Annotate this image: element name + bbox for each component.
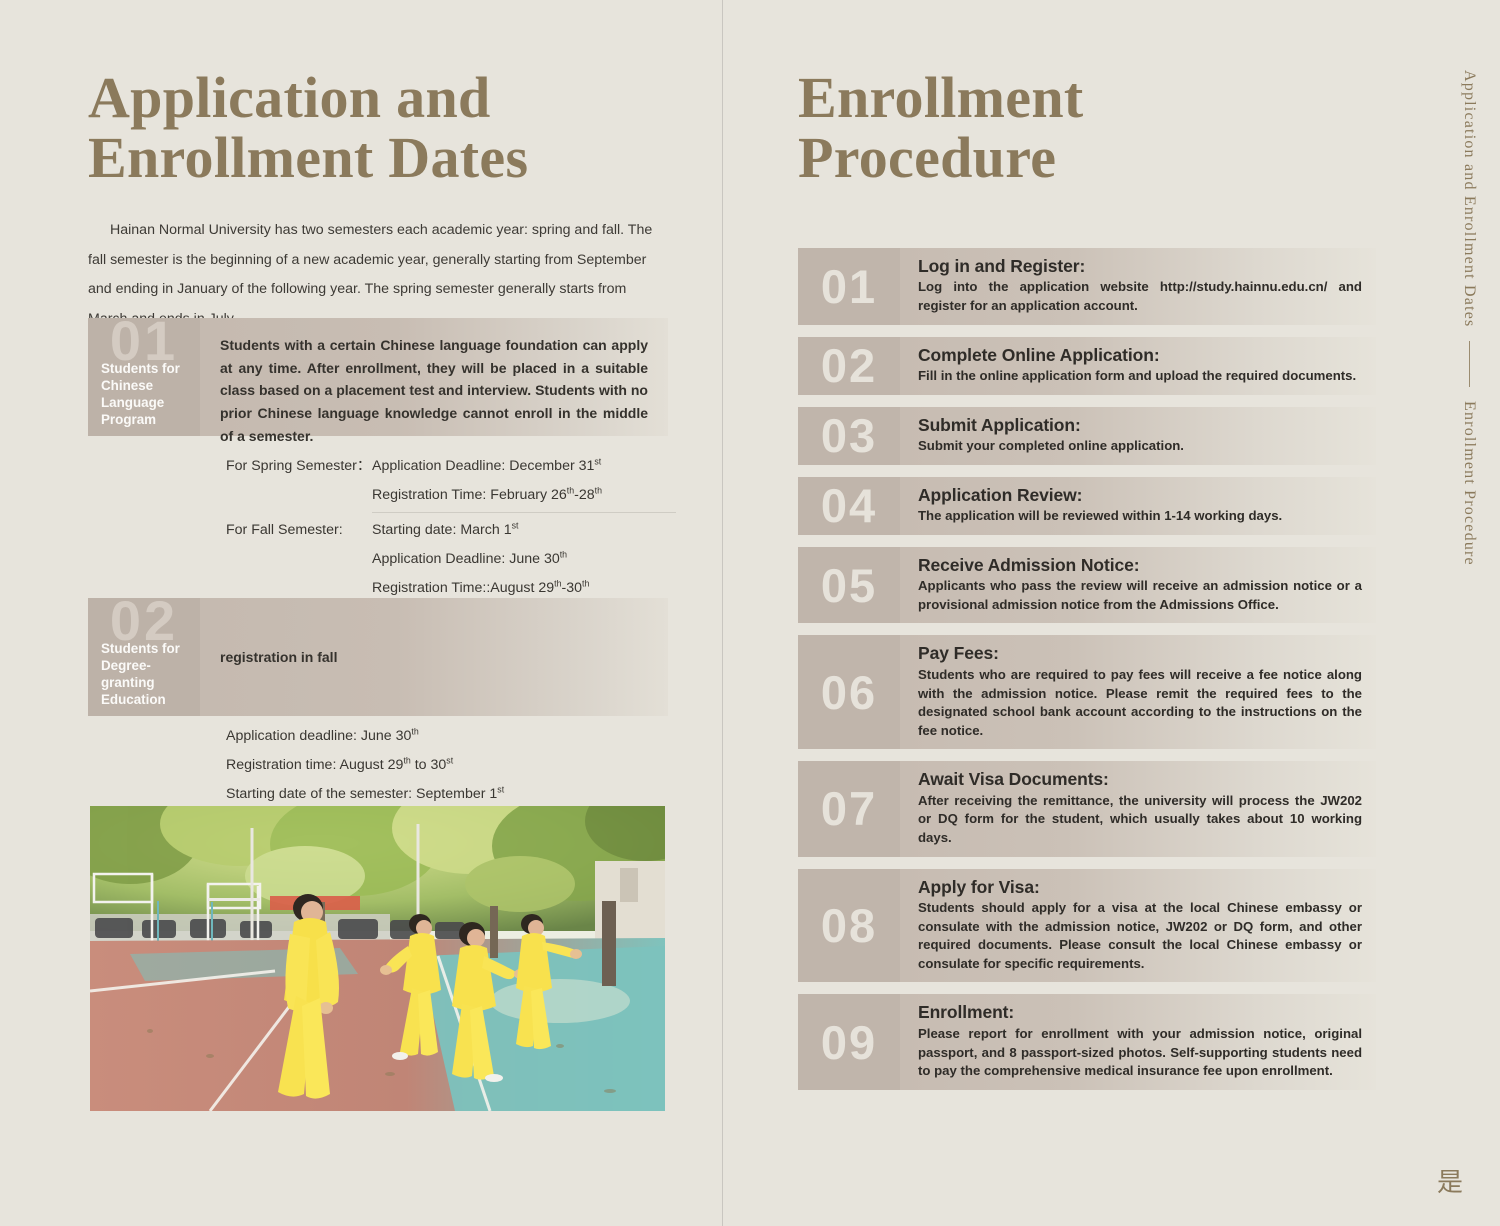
step-number: 02 <box>798 337 900 395</box>
enrollment-steps-list: 01 Log in and Register: Log into the app… <box>798 248 1376 1102</box>
page-title-right: Enrollment Procedure <box>798 68 1398 187</box>
step-number: 08 <box>798 869 900 983</box>
step-body: Application Review: The application will… <box>900 477 1376 535</box>
dates-divider-rule <box>372 512 676 513</box>
step-body: Apply for Visa: Students should apply fo… <box>900 869 1376 983</box>
side-rail: Application and Enrollment Dates Enrollm… <box>1452 70 1486 690</box>
page-title-left-line2: Enrollment Dates <box>88 128 688 188</box>
side-rail-bottom-label: Enrollment Procedure <box>1460 401 1478 566</box>
brochure-spread: Application and Enrollment Dates Hainan … <box>0 0 1500 1226</box>
step-text: After receiving the remittance, the univ… <box>918 792 1362 848</box>
page-title-left-line1: Application and <box>88 68 688 128</box>
step-text: Students who are required to pay fees wi… <box>918 666 1362 740</box>
step-body: Complete Online Application: Fill in the… <box>900 337 1376 395</box>
program-block-02: 02 Students for Degree-granting Educatio… <box>88 598 668 716</box>
step-number: 07 <box>798 761 900 856</box>
spring-application-deadline: Application Deadline: December 31st <box>372 452 676 481</box>
step-text: Submit your completed online application… <box>918 437 1362 456</box>
step-number: 06 <box>798 635 900 749</box>
left-page: Application and Enrollment Dates Hainan … <box>0 0 722 1226</box>
program-block-01-label: Students for Chinese Language Program <box>101 360 199 429</box>
enrollment-step: 04 Application Review: The application w… <box>798 477 1376 535</box>
step-text: The application will be reviewed within … <box>918 507 1362 526</box>
program-block-02-label: Students for Degree-granting Education <box>101 640 199 709</box>
degree-starting-date: Starting date of the semester: September… <box>226 780 676 809</box>
spring-registration-time: Registration Time: February 26th-28th <box>372 481 676 510</box>
enrollment-step: 03 Submit Application: Submit your compl… <box>798 407 1376 465</box>
fall-application-deadline: Application Deadline: June 30th <box>372 545 676 574</box>
program-block-02-number-box: 02 Students for Degree-granting Educatio… <box>88 598 200 716</box>
page-spine-divider <box>722 0 723 1226</box>
step-title: Receive Admission Notice: <box>918 554 1362 577</box>
step-text: Students should apply for a visa at the … <box>918 899 1362 973</box>
step-body: Log in and Register: Log into the applic… <box>900 248 1376 325</box>
step-number: 01 <box>798 248 900 325</box>
spring-semester-label: For Spring Semester： <box>226 452 372 509</box>
step-body: Submit Application: Submit your complete… <box>900 407 1376 465</box>
step-body: Await Visa Documents: After receiving th… <box>900 761 1376 856</box>
enrollment-step: 08 Apply for Visa: Students should apply… <box>798 869 1376 983</box>
step-text: Applicants who pass the review will rece… <box>918 577 1362 614</box>
program-block-01-body: Students with a certain Chinese language… <box>200 318 668 436</box>
degree-registration-time: Registration time: August 29th to 30st <box>226 751 676 780</box>
enrollment-step: 09 Enrollment: Please report for enrollm… <box>798 994 1376 1089</box>
degree-application-deadline: Application deadline: June 30th <box>226 722 676 751</box>
step-text: Please report for enrollment with your a… <box>918 1025 1362 1081</box>
step-title: Log in and Register: <box>918 255 1362 278</box>
enrollment-step: 05 Receive Admission Notice: Applicants … <box>798 547 1376 624</box>
enrollment-step: 07 Await Visa Documents: After receiving… <box>798 761 1376 856</box>
step-number: 05 <box>798 547 900 624</box>
enrollment-step: 06 Pay Fees: Students who are required t… <box>798 635 1376 749</box>
side-rail-dash <box>1469 341 1470 387</box>
spring-semester-row: For Spring Semester： Application Deadlin… <box>226 452 676 509</box>
step-title: Complete Online Application: <box>918 344 1362 367</box>
step-title: Submit Application: <box>918 414 1362 437</box>
fall-starting-date-march: Starting date: March 1st <box>372 516 676 545</box>
spring-semester-values: Application Deadline: December 31st Regi… <box>372 452 676 509</box>
campus-taichi-photo <box>90 806 665 1111</box>
step-body: Pay Fees: Students who are required to p… <box>900 635 1376 749</box>
step-number: 09 <box>798 994 900 1089</box>
step-title: Pay Fees: <box>918 642 1362 665</box>
program-block-01: 01 Students for Chinese Language Program… <box>88 318 668 436</box>
step-title: Apply for Visa: <box>918 876 1362 899</box>
enrollment-step: 01 Log in and Register: Log into the app… <box>798 248 1376 325</box>
step-number: 04 <box>798 477 900 535</box>
enrollment-step: 02 Complete Online Application: Fill in … <box>798 337 1376 395</box>
step-body: Enrollment: Please report for enrollment… <box>900 994 1376 1089</box>
block-02-dates: Application deadline: June 30th Registra… <box>226 722 676 809</box>
step-body: Receive Admission Notice: Applicants who… <box>900 547 1376 624</box>
corner-calligraphy-mark: 是 <box>1428 1158 1472 1202</box>
step-number: 03 <box>798 407 900 465</box>
taichi-photo-illustration <box>90 806 665 1111</box>
side-rail-top-label: Application and Enrollment Dates <box>1460 70 1478 327</box>
step-title: Await Visa Documents: <box>918 768 1362 791</box>
intro-paragraph: Hainan Normal University has two semeste… <box>88 216 668 334</box>
page-title-left: Application and Enrollment Dates <box>88 68 688 187</box>
step-title: Enrollment: <box>918 1001 1362 1024</box>
step-text: Fill in the online application form and … <box>918 367 1362 386</box>
page-title-right-line1: Enrollment <box>798 68 1398 128</box>
step-text: Log into the application website http://… <box>918 278 1362 315</box>
page-title-right-line2: Procedure <box>798 128 1398 188</box>
program-block-01-number-box: 01 Students for Chinese Language Program <box>88 318 200 436</box>
program-block-02-body: registration in fall <box>200 598 668 716</box>
step-title: Application Review: <box>918 484 1362 507</box>
